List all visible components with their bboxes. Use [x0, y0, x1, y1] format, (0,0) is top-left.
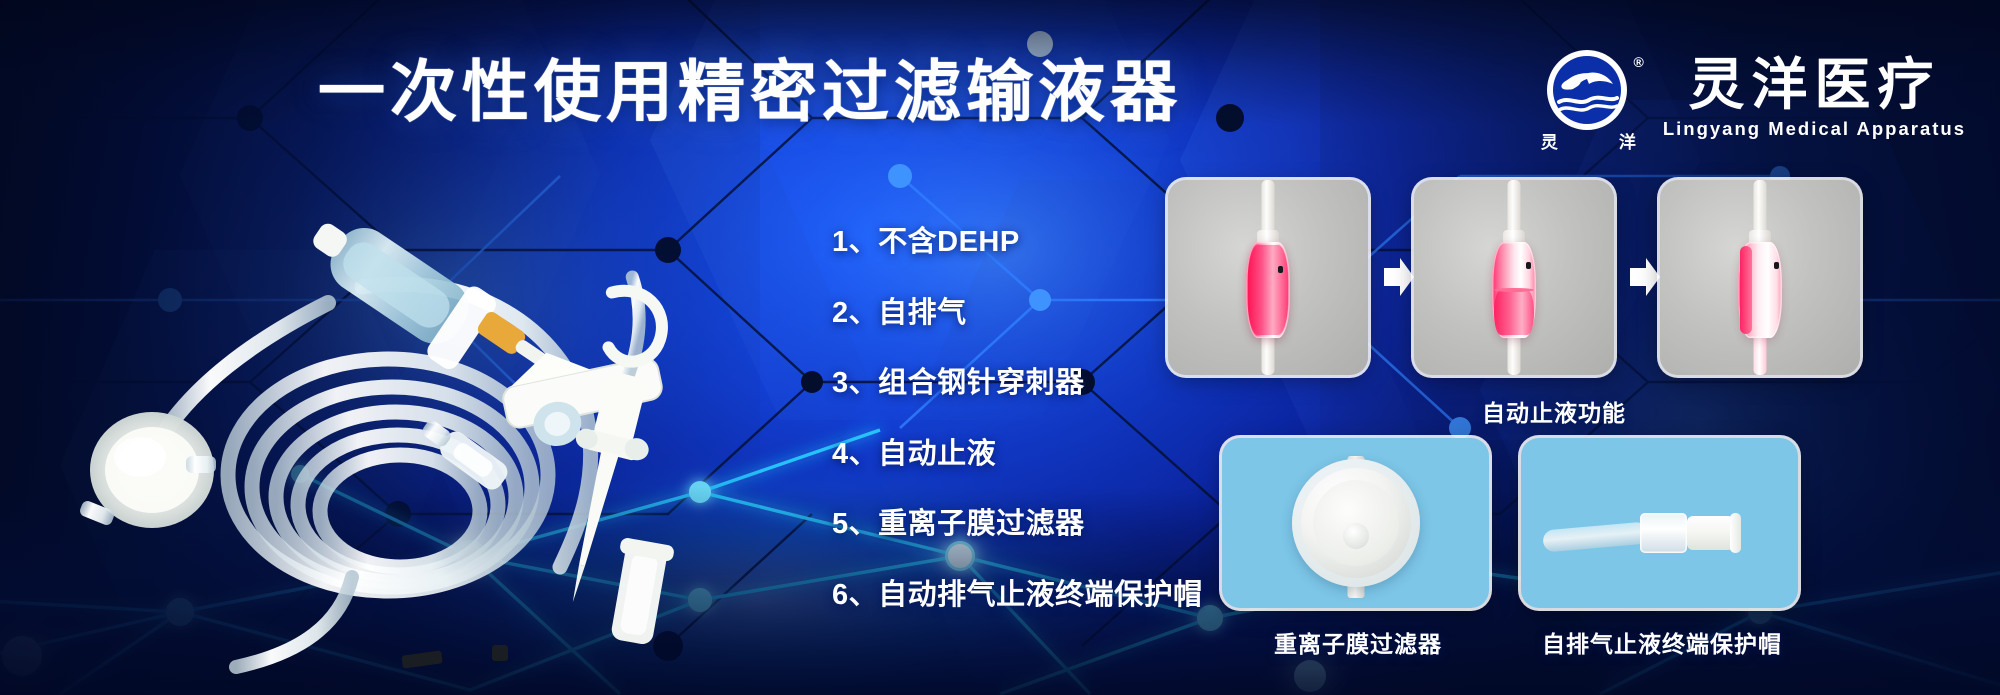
brand-wordmark: 灵洋医疗 Lingyang Medical Apparatus — [1663, 56, 1966, 141]
list-item: 2、自排气 — [832, 289, 1203, 331]
brand-name-cn: 灵洋医疗 — [1688, 56, 1940, 115]
photo-panel-auto-stop-3 — [1660, 180, 1860, 375]
terminal-protective-cap-part — [604, 537, 675, 647]
photo-panel-heavy-ion-filter — [1222, 438, 1489, 608]
filter-housing — [1292, 459, 1420, 587]
caption-heavy-ion-filter: 重离子膜过滤器 — [1274, 625, 1442, 659]
drip-chamber-sensor-dot — [1774, 262, 1779, 269]
list-item: 4、自动止液 — [832, 430, 1203, 472]
lingyang-swimmer-emblem-icon: ® 灵 洋 — [1537, 46, 1641, 150]
drip-chamber-fluid — [1494, 290, 1534, 335]
photo-panel-protective-cap — [1521, 438, 1798, 608]
drip-chamber-sensor-dot — [1278, 266, 1283, 273]
list-item: 6、自动排气止液终端保护帽 — [832, 571, 1203, 613]
brand-logo[interactable]: ® 灵 洋 灵洋医疗 Lingyang Medical Apparatus — [1537, 46, 1966, 150]
cap-end-ring — [1730, 513, 1741, 553]
heavy-ion-membrane-filter-part — [78, 412, 216, 528]
cap-vent-body — [1687, 516, 1734, 550]
flow-arrow-1 — [1382, 255, 1416, 299]
drip-chamber-fluid — [1740, 246, 1752, 334]
drip-chamber-fluid — [1248, 245, 1288, 335]
photo-panel-auto-stop-1 — [1168, 180, 1368, 375]
emblem-subtext-right: 洋 — [1619, 128, 1637, 153]
cap-luer-lock — [1640, 513, 1687, 553]
list-item: 3、组合钢针穿刺器 — [832, 359, 1203, 401]
caption-auto-stop-function: 自动止液功能 — [1482, 394, 1626, 428]
brand-name-en: Lingyang Medical Apparatus — [1663, 118, 1966, 140]
drip-chamber-sensor-dot — [1526, 262, 1531, 269]
flow-arrow-2 — [1628, 255, 1662, 299]
cap-tubing — [1542, 522, 1649, 553]
caption-protective-cap: 自排气止液终端保护帽 — [1542, 625, 1782, 659]
emblem-subtext-left: 灵 — [1541, 128, 1559, 153]
drip-chamber-fluid-surface — [1494, 288, 1534, 292]
filter-center-port — [1343, 523, 1369, 549]
emblem-subtext: 灵 洋 — [1537, 128, 1641, 153]
registered-trademark-icon: ® — [1634, 54, 1644, 70]
tube-clamps — [401, 645, 508, 669]
product-photo-infusion-set — [40, 175, 800, 675]
banner-root: 一次性使用精密过滤输液器 ® 灵 洋 灵洋医疗 Lingyang Medical… — [0, 0, 2000, 695]
list-item: 1、不含DEHP — [832, 218, 1203, 260]
feature-list: 1、不含DEHP 2、自排气 3、组合钢针穿刺器 4、自动止液 5、重离子膜过滤… — [832, 218, 1203, 613]
photo-panel-auto-stop-2 — [1414, 180, 1614, 375]
page-title: 一次性使用精密过滤输液器 — [318, 57, 1182, 128]
list-item: 5、重离子膜过滤器 — [832, 500, 1203, 542]
